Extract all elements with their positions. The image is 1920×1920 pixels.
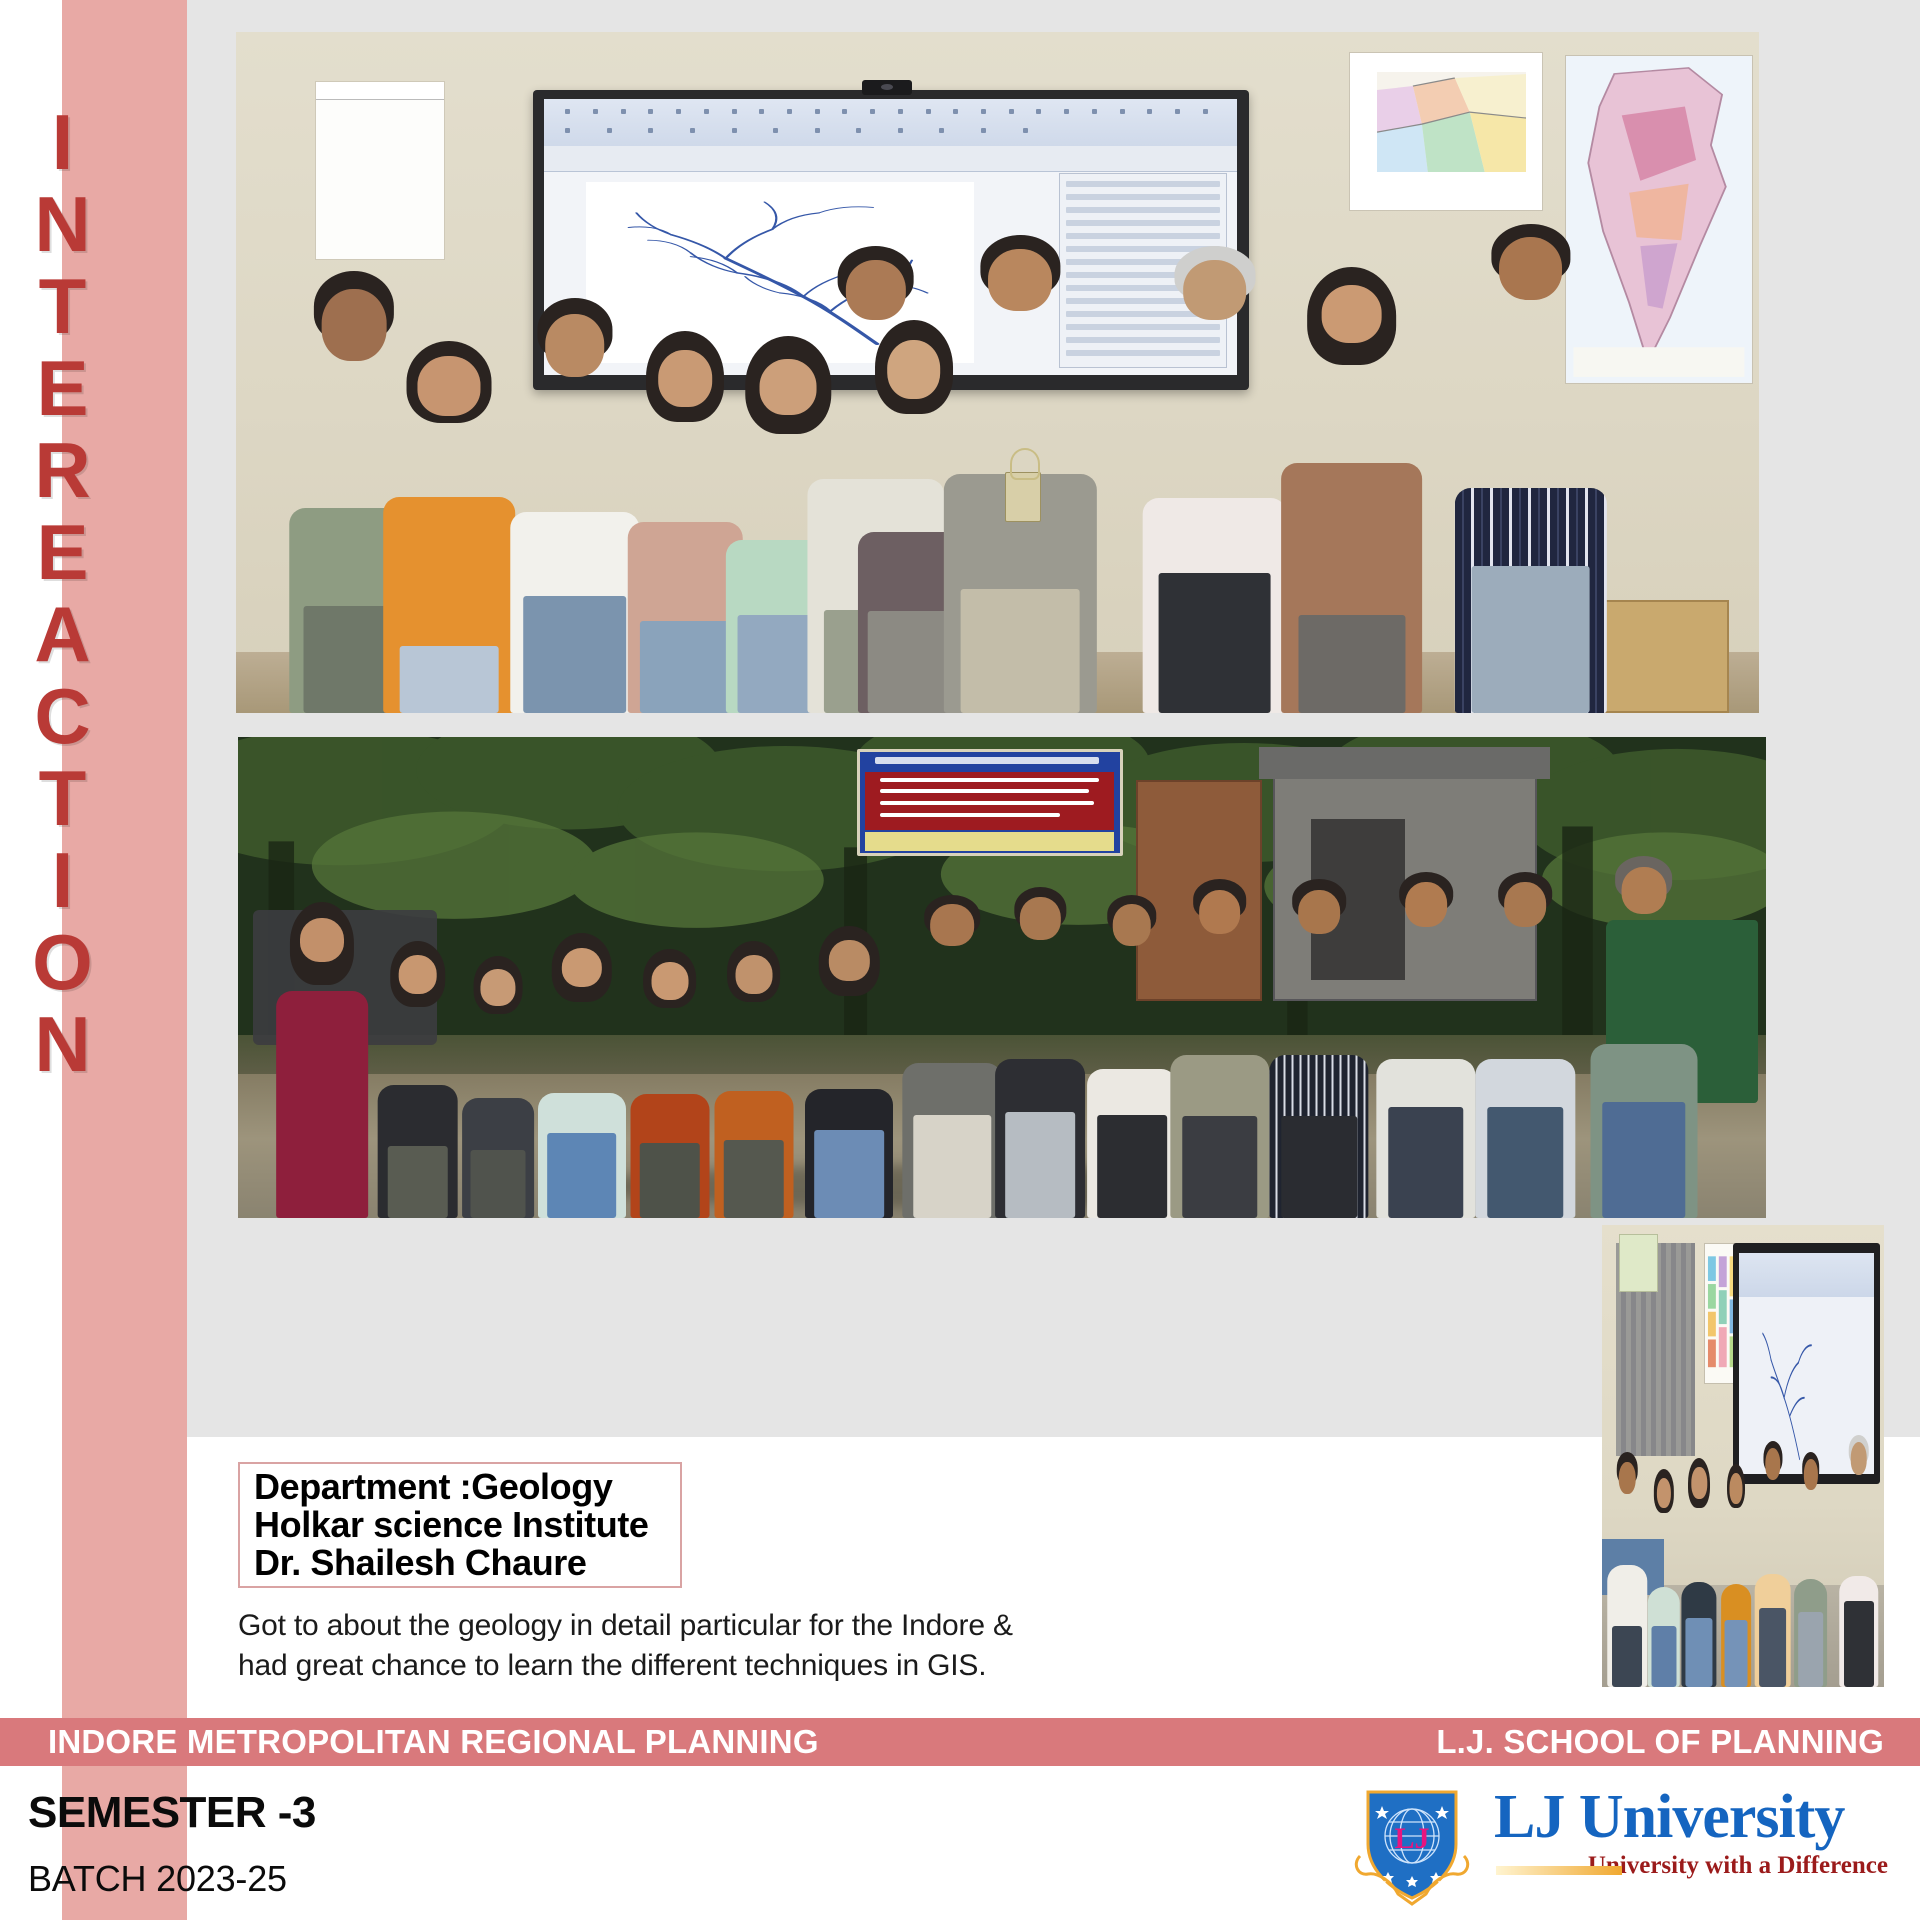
photo2-group-of-people xyxy=(238,833,1766,1218)
bottom-banner: INDORE METROPOLITAN REGIONAL PLANNING L.… xyxy=(0,1718,1920,1766)
visit-description-caption: Got to about the geology in detail parti… xyxy=(238,1606,1398,1686)
wall-poster xyxy=(1619,1234,1658,1291)
vertical-title-letter: E xyxy=(36,514,88,596)
batch-label: BATCH 2023-25 xyxy=(28,1858,287,1900)
photo1-group-of-people xyxy=(236,182,1759,713)
lj-shield-emblem-icon: LJ xyxy=(1348,1778,1476,1906)
lj-logo-underline xyxy=(1496,1866,1622,1875)
department-line-3: Dr. Shailesh Chaure xyxy=(254,1544,587,1582)
vertical-title-letter: N xyxy=(34,186,90,268)
vertical-title-letter: T xyxy=(39,268,87,350)
vertical-title-letter: I xyxy=(52,104,74,186)
vertical-title-letter: C xyxy=(34,678,90,760)
poster-vertical-title: INTEREACTION xyxy=(0,104,125,1088)
photo3-people xyxy=(1602,1401,1884,1687)
vertical-title-letter: E xyxy=(36,350,88,432)
poster-canvas: INTEREACTION Department :Geology Holkar … xyxy=(0,0,1920,1920)
gis-secondary-toolbar xyxy=(544,146,1237,172)
webcam-icon xyxy=(862,80,912,95)
outdoor-group-photo xyxy=(238,737,1766,1218)
vertical-title-letter: A xyxy=(34,596,90,678)
classroom-discussion-photo xyxy=(1602,1225,1884,1687)
department-info-box: Department :Geology Holkar science Insti… xyxy=(238,1462,682,1588)
gis-toolbar-ribbon xyxy=(544,99,1237,147)
banner-project-title: INDORE METROPOLITAN REGIONAL PLANNING xyxy=(48,1722,819,1762)
svg-text:LJ: LJ xyxy=(1394,1822,1429,1855)
department-line-1: Department :Geology xyxy=(254,1468,612,1506)
banner-school-name: L.J. SCHOOL OF PLANNING xyxy=(1436,1722,1884,1762)
lj-logo-wordmark: LJ University University with a Differen… xyxy=(1494,1786,1888,1898)
memento-trophy xyxy=(1005,472,1041,522)
vertical-title-letter: R xyxy=(34,432,90,514)
lj-logo-main-text: LJ University xyxy=(1494,1786,1888,1848)
semester-label: SEMESTER -3 xyxy=(28,1788,316,1838)
classroom-felicitation-photo xyxy=(236,32,1759,713)
vertical-title-letter: O xyxy=(32,924,93,1006)
vertical-title-letter: N xyxy=(34,1006,90,1088)
vertical-title-letter: T xyxy=(39,760,87,842)
vertical-title-letter: I xyxy=(52,842,74,924)
lj-university-logo: LJ LJ University University with a Diffe… xyxy=(1348,1778,1888,1906)
caption-line-2: had great chance to learn the different … xyxy=(238,1646,1398,1686)
caption-line-1: Got to about the geology in detail parti… xyxy=(238,1606,1398,1646)
department-line-2: Holkar science Institute xyxy=(254,1506,649,1544)
